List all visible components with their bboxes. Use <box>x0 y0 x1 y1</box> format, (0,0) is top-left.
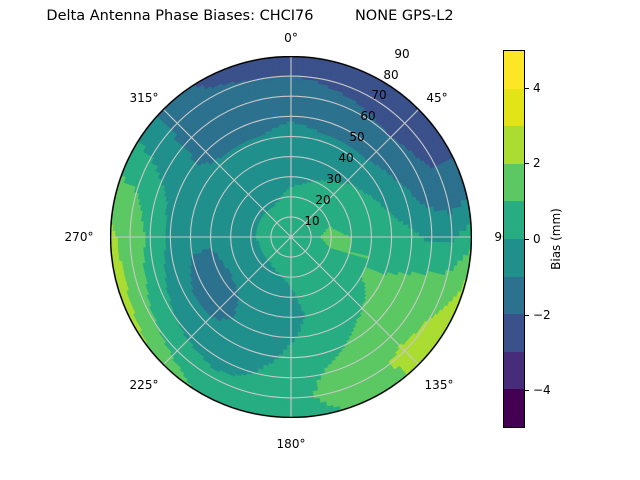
colorbar-tick <box>525 88 529 89</box>
colorbar[interactable]: −4−2024 <box>503 50 525 428</box>
colorbar-band <box>504 277 524 315</box>
colorbar-tick-label: 2 <box>533 156 541 170</box>
colorbar-tick <box>525 163 529 164</box>
polar-grid <box>110 56 472 418</box>
colorbar-tick-label: 4 <box>533 81 541 95</box>
colorbar-tick <box>525 390 529 391</box>
colorbar-tick <box>525 239 529 240</box>
r-tick-90: 90 <box>394 47 409 61</box>
colorbar-band <box>504 314 524 352</box>
colorbar-gradient <box>503 50 525 428</box>
colorbar-tick-label: −2 <box>533 308 551 322</box>
colorbar-band <box>504 389 524 427</box>
figure-title: Delta Antenna Phase Biases: CHCI76 NONE … <box>0 8 500 24</box>
polar-plot-svg <box>110 56 472 418</box>
theta-tick-0: 0° <box>284 31 298 45</box>
colorbar-band <box>504 201 524 239</box>
colorbar-band <box>504 51 524 89</box>
theta-tick-180: 180° <box>277 437 306 451</box>
colorbar-tick-label: 0 <box>533 232 541 246</box>
r-tick-50: 50 <box>349 130 364 144</box>
colorbar-tick <box>525 315 529 316</box>
theta-tick-315: 315° <box>130 91 159 105</box>
colorbar-label: Bias (mm) <box>549 208 563 270</box>
theta-tick-270: 270° <box>65 230 94 244</box>
theta-tick-135: 135° <box>425 378 454 392</box>
r-tick-60: 60 <box>360 109 375 123</box>
colorbar-band <box>504 352 524 390</box>
colorbar-band <box>504 239 524 277</box>
theta-tick-225: 225° <box>130 378 159 392</box>
r-tick-20: 20 <box>315 193 330 207</box>
theta-tick-45: 45° <box>426 91 447 105</box>
r-tick-80: 80 <box>383 68 398 82</box>
r-tick-40: 40 <box>338 151 353 165</box>
r-tick-30: 30 <box>326 172 341 186</box>
colorbar-band <box>504 126 524 164</box>
r-tick-10: 10 <box>304 214 319 228</box>
colorbar-band <box>504 89 524 127</box>
figure-canvas: Delta Antenna Phase Biases: CHCI76 NONE … <box>0 0 640 480</box>
colorbar-band <box>504 164 524 202</box>
polar-axes[interactable]: 0° 45° 90 135° 180° 225° 270° 315° 10 20… <box>110 56 472 418</box>
colorbar-tick-label: −4 <box>533 383 551 397</box>
r-tick-70: 70 <box>371 88 386 102</box>
